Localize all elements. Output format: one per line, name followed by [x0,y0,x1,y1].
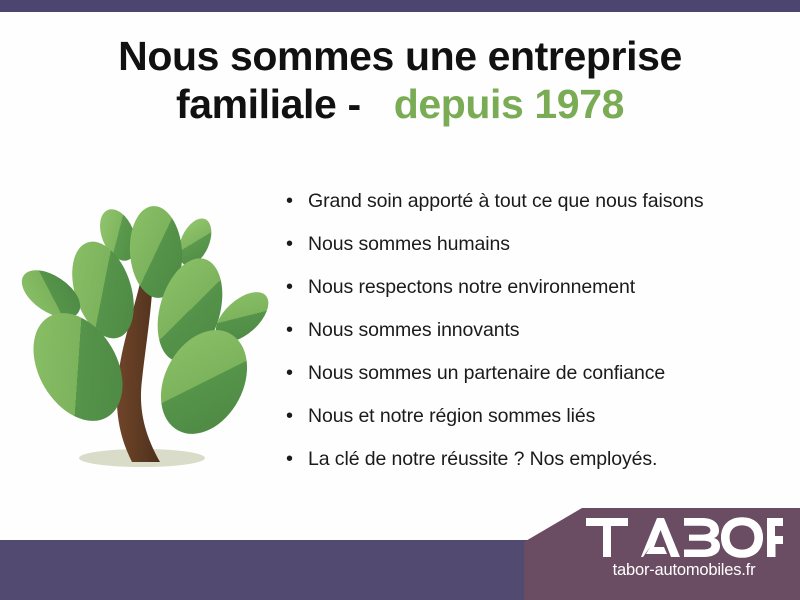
list-item: • Nous respectons notre environnement [286,276,776,319]
title-line-2-green: depuis 1978 [394,81,624,127]
title-line-1: Nous sommes une entreprise [0,32,800,80]
list-item-label: Nous sommes innovants [308,319,519,342]
list-item-label: Grand soin apporté à tout ce que nous fa… [308,190,704,213]
tabor-wordmark-icon [584,514,784,560]
logo-panel: tabor-automobiles.fr [524,508,800,600]
bullet-marker-icon: • [286,320,308,340]
list-item: • Nous et notre région sommes liés [286,405,776,448]
list-item: • Grand soin apporté à tout ce que nous … [286,190,776,233]
bullet-marker-icon: • [286,277,308,297]
list-item: • Nous sommes humains [286,233,776,276]
bullet-marker-icon: • [286,406,308,426]
brand-logo: tabor-automobiles.fr [584,514,784,580]
list-item: • Nous sommes un partenaire de confiance [286,362,776,405]
tree-illustration [14,182,270,482]
bullet-marker-icon: • [286,363,308,383]
title-line-2-black: familiale - [176,81,361,127]
list-item-label: Nous respectons notre environnement [308,276,635,299]
bullet-marker-icon: • [286,191,308,211]
list-item-label: Nous et notre région sommes liés [308,405,595,428]
top-accent-bar [0,0,800,12]
slide-canvas: Nous sommes une entreprise familiale - d… [0,0,800,600]
list-item: • Nous sommes innovants [286,319,776,362]
list-item: • La clé de notre réussite ? Nos employé… [286,448,776,491]
bullet-list: • Grand soin apporté à tout ce que nous … [286,190,776,491]
bullet-marker-icon: • [286,234,308,254]
page-title: Nous sommes une entreprise familiale - d… [0,32,800,129]
list-item-label: La clé de notre réussite ? Nos employés. [308,448,657,471]
list-item-label: Nous sommes un partenaire de confiance [308,362,665,385]
title-line-2: familiale - depuis 1978 [0,80,800,128]
logo-tagline: tabor-automobiles.fr [584,561,784,580]
list-item-label: Nous sommes humains [308,233,510,256]
bullet-marker-icon: • [286,449,308,469]
